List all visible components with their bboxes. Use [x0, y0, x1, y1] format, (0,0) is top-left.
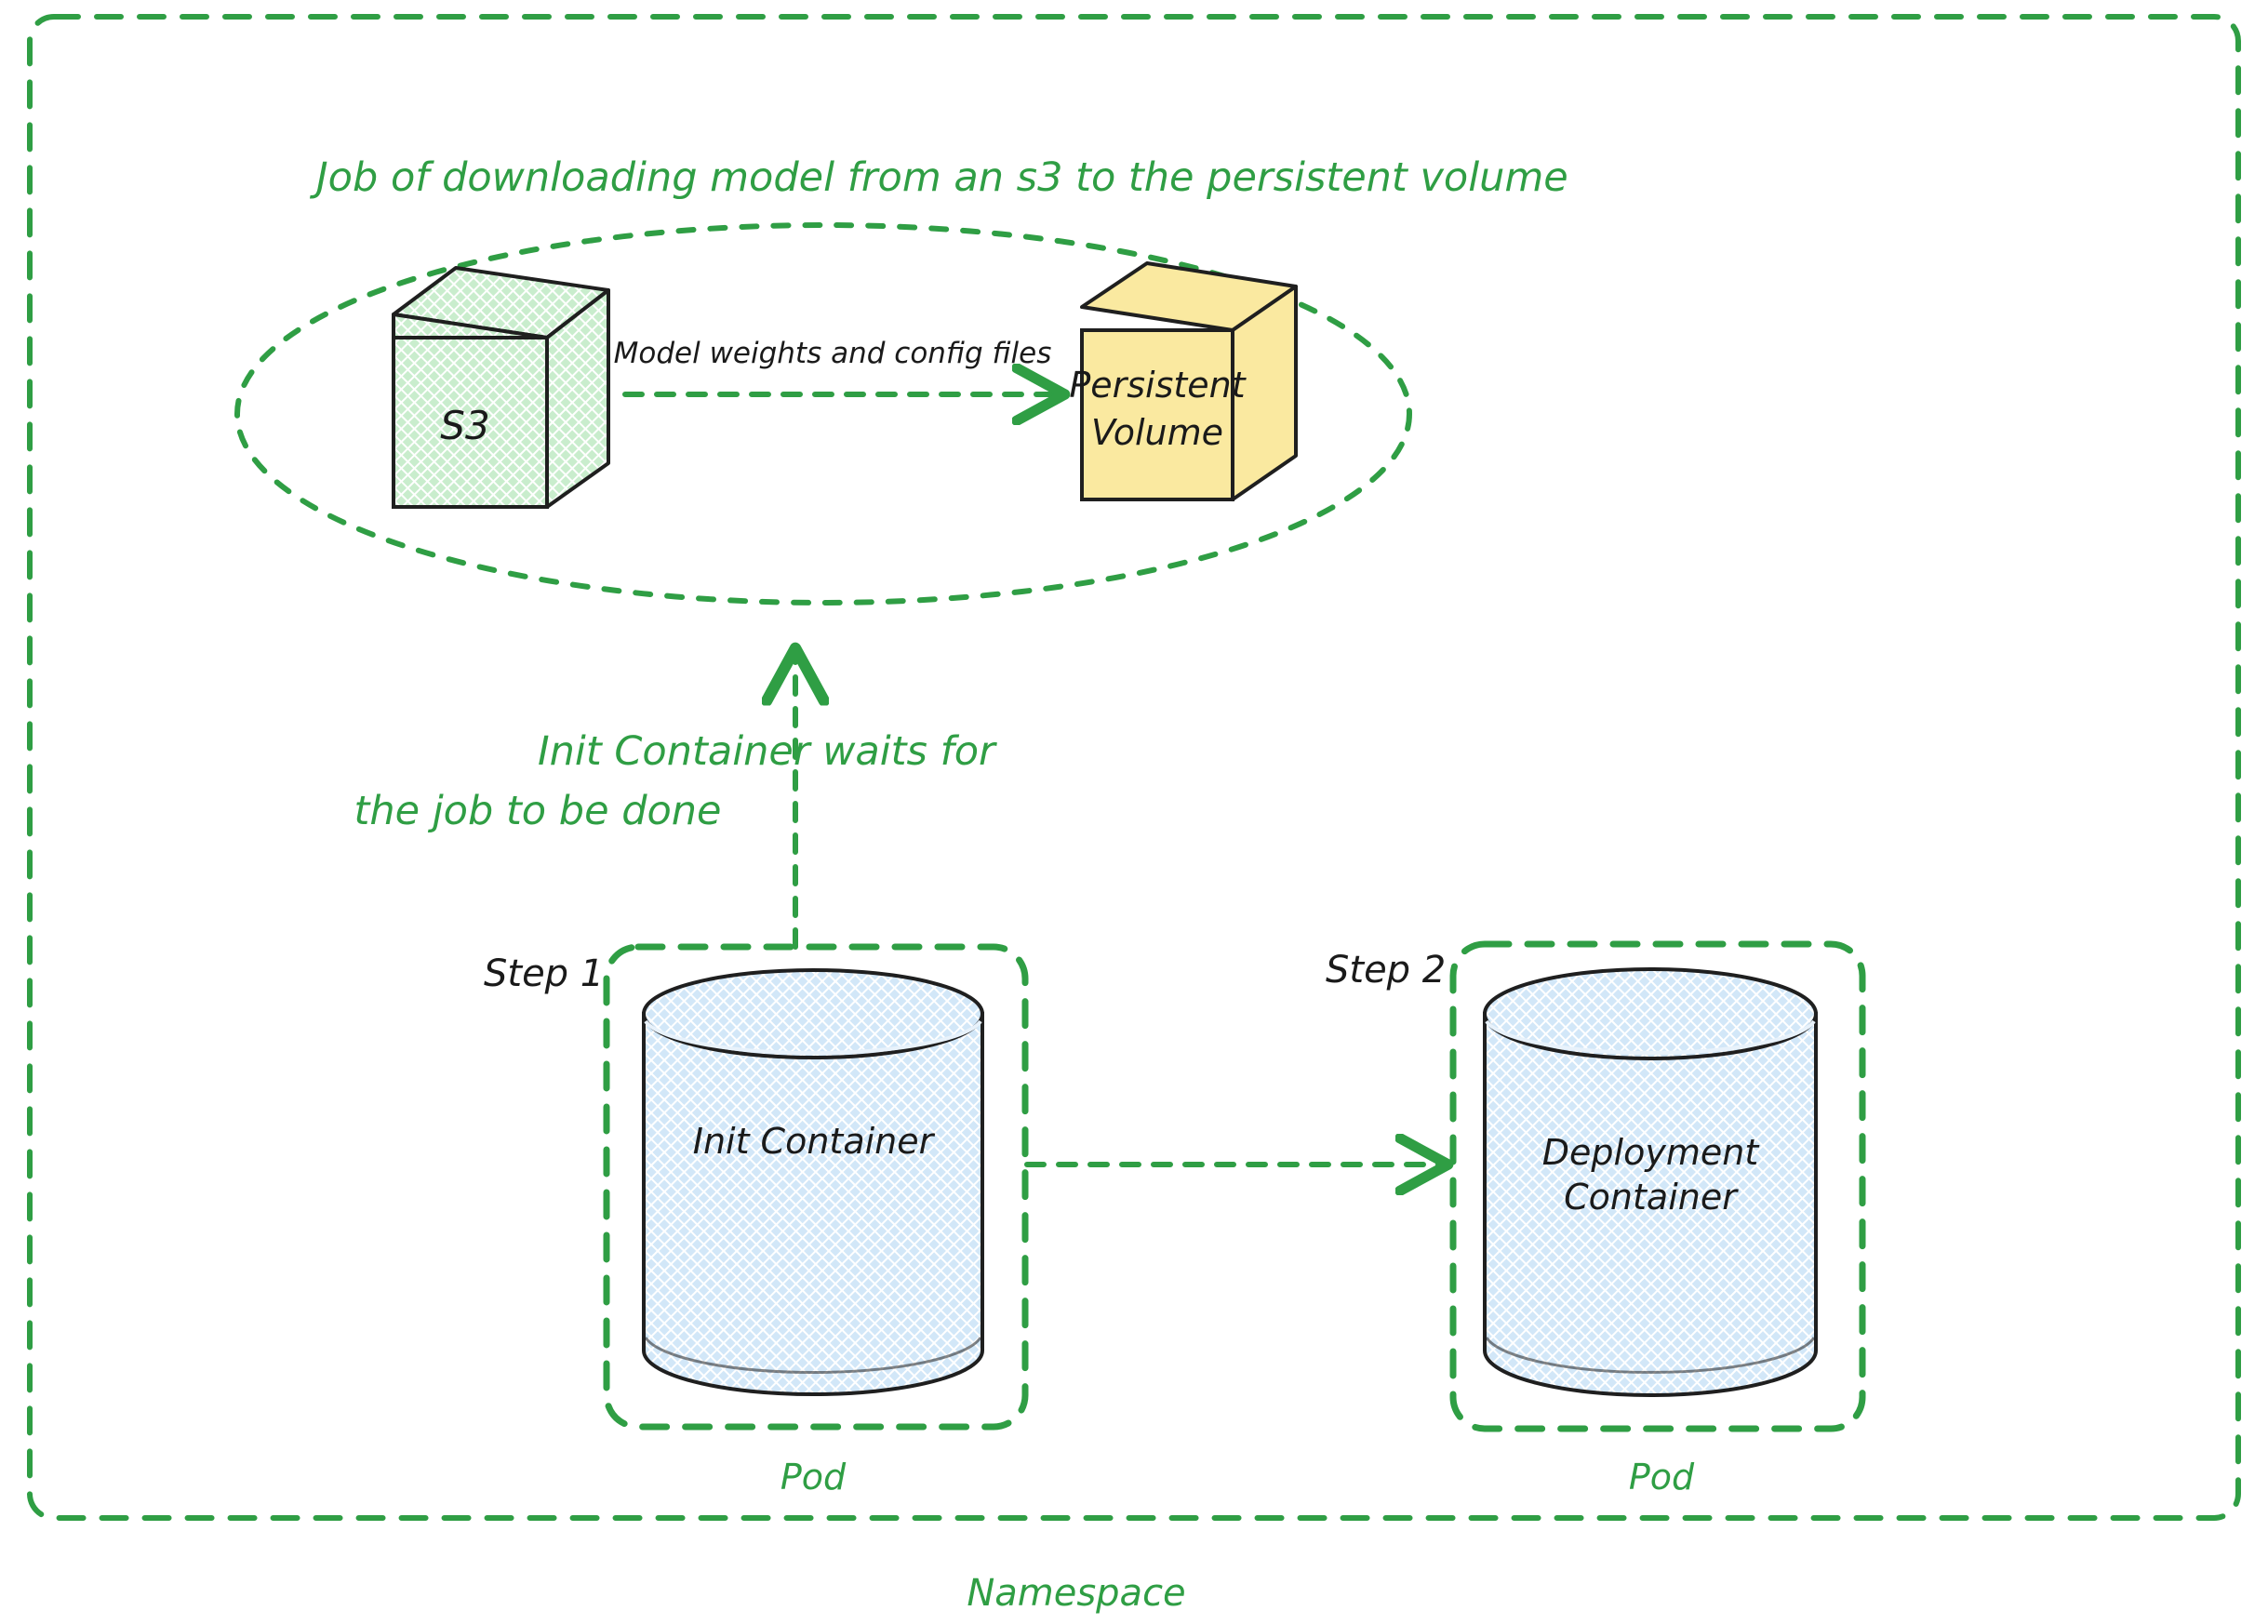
deployment-container-label-line1: Deployment	[1542, 1132, 1761, 1173]
pod-label-step-1: Pod	[780, 1457, 847, 1498]
deployment-container-label-line2: Container	[1564, 1177, 1739, 1218]
init-container-label: Init Container	[693, 1121, 936, 1162]
step-1-label: Step 1	[484, 952, 604, 995]
s3-cube	[394, 268, 608, 507]
persistent-volume-label-line2: Volume	[1091, 412, 1223, 453]
persistent-volume-label-line1: Persistent	[1069, 365, 1247, 406]
model-transfer-label: Model weights and config files	[614, 337, 1052, 370]
wait-note-line2: the job to be done	[354, 788, 721, 834]
s3-label: S3	[440, 403, 489, 448]
namespace-boundary	[30, 17, 2238, 1518]
wait-note-line1: Init Container waits for	[538, 728, 997, 775]
init-container-cylinder	[644, 970, 982, 1394]
pod-label-step-2: Pod	[1629, 1457, 1695, 1498]
job-title: Job of downloading model from an s3 to t…	[309, 154, 1568, 201]
diagram-svg: Job of downloading model from an s3 to t…	[0, 0, 2268, 1624]
step-2-label: Step 2	[1326, 949, 1446, 992]
namespace-label: Namespace	[967, 1572, 1185, 1615]
diagram-canvas: Job of downloading model from an s3 to t…	[0, 0, 2268, 1624]
